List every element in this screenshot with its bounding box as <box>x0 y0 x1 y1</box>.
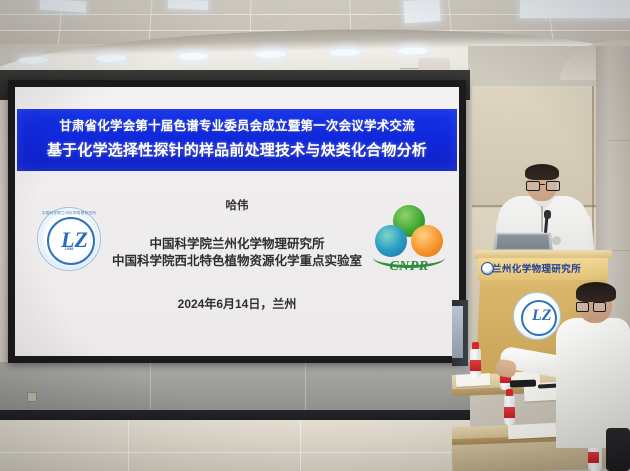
wall-outlet <box>27 392 37 402</box>
podium-sign-text: 兰州化学物理研究所 <box>492 261 604 275</box>
presenter-hair <box>525 164 559 180</box>
projection-screen-frame: 甘肃省化学会第十届色谱专业委员会成立暨第一次会议学术交流 基于化学选择性探针的样… <box>8 80 466 363</box>
podium-front-logo-ring: LZ <box>521 300 557 336</box>
licp-logo-inner-ring: LZ <box>47 217 95 265</box>
slide-title-line-1: 甘肃省化学会第十届色谱专业委员会成立暨第一次会议学术交流 <box>17 115 457 134</box>
slide-date-location: 2024年6月14日，兰州 <box>15 295 459 312</box>
chair-back <box>606 428 630 471</box>
wall-below-screen <box>0 362 470 414</box>
podium-front-logo: LZ <box>513 292 561 340</box>
attendee-hair <box>576 282 616 302</box>
water-bottle-1[interactable] <box>470 348 481 378</box>
bottle-cap-3 <box>506 389 513 396</box>
licp-institute-logo: 中国科学院兰州化学物理研究所 LZ 1958 <box>37 207 101 271</box>
bottle-label-3 <box>504 407 515 418</box>
laptop-screen[interactable] <box>496 235 549 249</box>
attendee-glasses-icon <box>576 302 604 310</box>
floor-tile-line-1 <box>128 420 129 471</box>
slide-title-banner: 甘肃省化学会第十届色谱专业委员会成立暨第一次会议学术交流 基于化学选择性探针的样… <box>17 109 457 171</box>
right-corner-seam-1 <box>608 140 630 141</box>
cnpr-logo: CNPR <box>371 203 447 277</box>
licp-logo-year: 1958 <box>38 246 100 251</box>
paper-sheet-4 <box>508 423 557 439</box>
smartphone-on-table[interactable] <box>510 380 536 388</box>
water-bottle-3[interactable] <box>504 395 515 425</box>
presenter-shirt-placket <box>541 206 543 232</box>
wall-panel-seam-2 <box>305 362 306 414</box>
slide-title-line-2: 基于化学选择性探针的样品前处理技术与炔类化合物分析 <box>17 139 457 160</box>
cnpr-logo-text: CNPR <box>371 259 447 275</box>
ceiling-panel-light-2 <box>168 0 208 10</box>
floor <box>0 420 470 471</box>
bottle-cap-1 <box>472 342 479 349</box>
bottle-label-4 <box>588 452 599 463</box>
microphone-head <box>544 210 551 219</box>
bottle-label-1 <box>470 360 481 371</box>
slide-body: 哈伟 中国科学院兰州化学物理研究所 中国科学院西北特色植物资源化学重点实验室 2… <box>15 171 459 356</box>
conference-room-scene: 甘肃省化学会第十届色谱专业委员会成立暨第一次会议学术交流 基于化学选择性探针的样… <box>0 0 630 471</box>
ceiling-panel-light-3 <box>403 0 440 23</box>
side-monitor-screen <box>452 306 463 358</box>
ceiling-panel-light-4 <box>520 0 630 18</box>
podium-front-logo-mark: LZ <box>532 308 552 324</box>
projected-slide: 甘肃省化学会第十届色谱专业委员会成立暨第一次会议学术交流 基于化学选择性探针的样… <box>15 87 459 356</box>
floor-tile-line-2 <box>300 420 301 471</box>
slide-top-margin <box>15 87 459 109</box>
presenter-shirt-detail <box>552 236 561 245</box>
floor-tile-line-3 <box>0 452 470 453</box>
wall-panel-seam-1 <box>150 362 151 414</box>
presenter-glasses-icon <box>526 181 558 189</box>
